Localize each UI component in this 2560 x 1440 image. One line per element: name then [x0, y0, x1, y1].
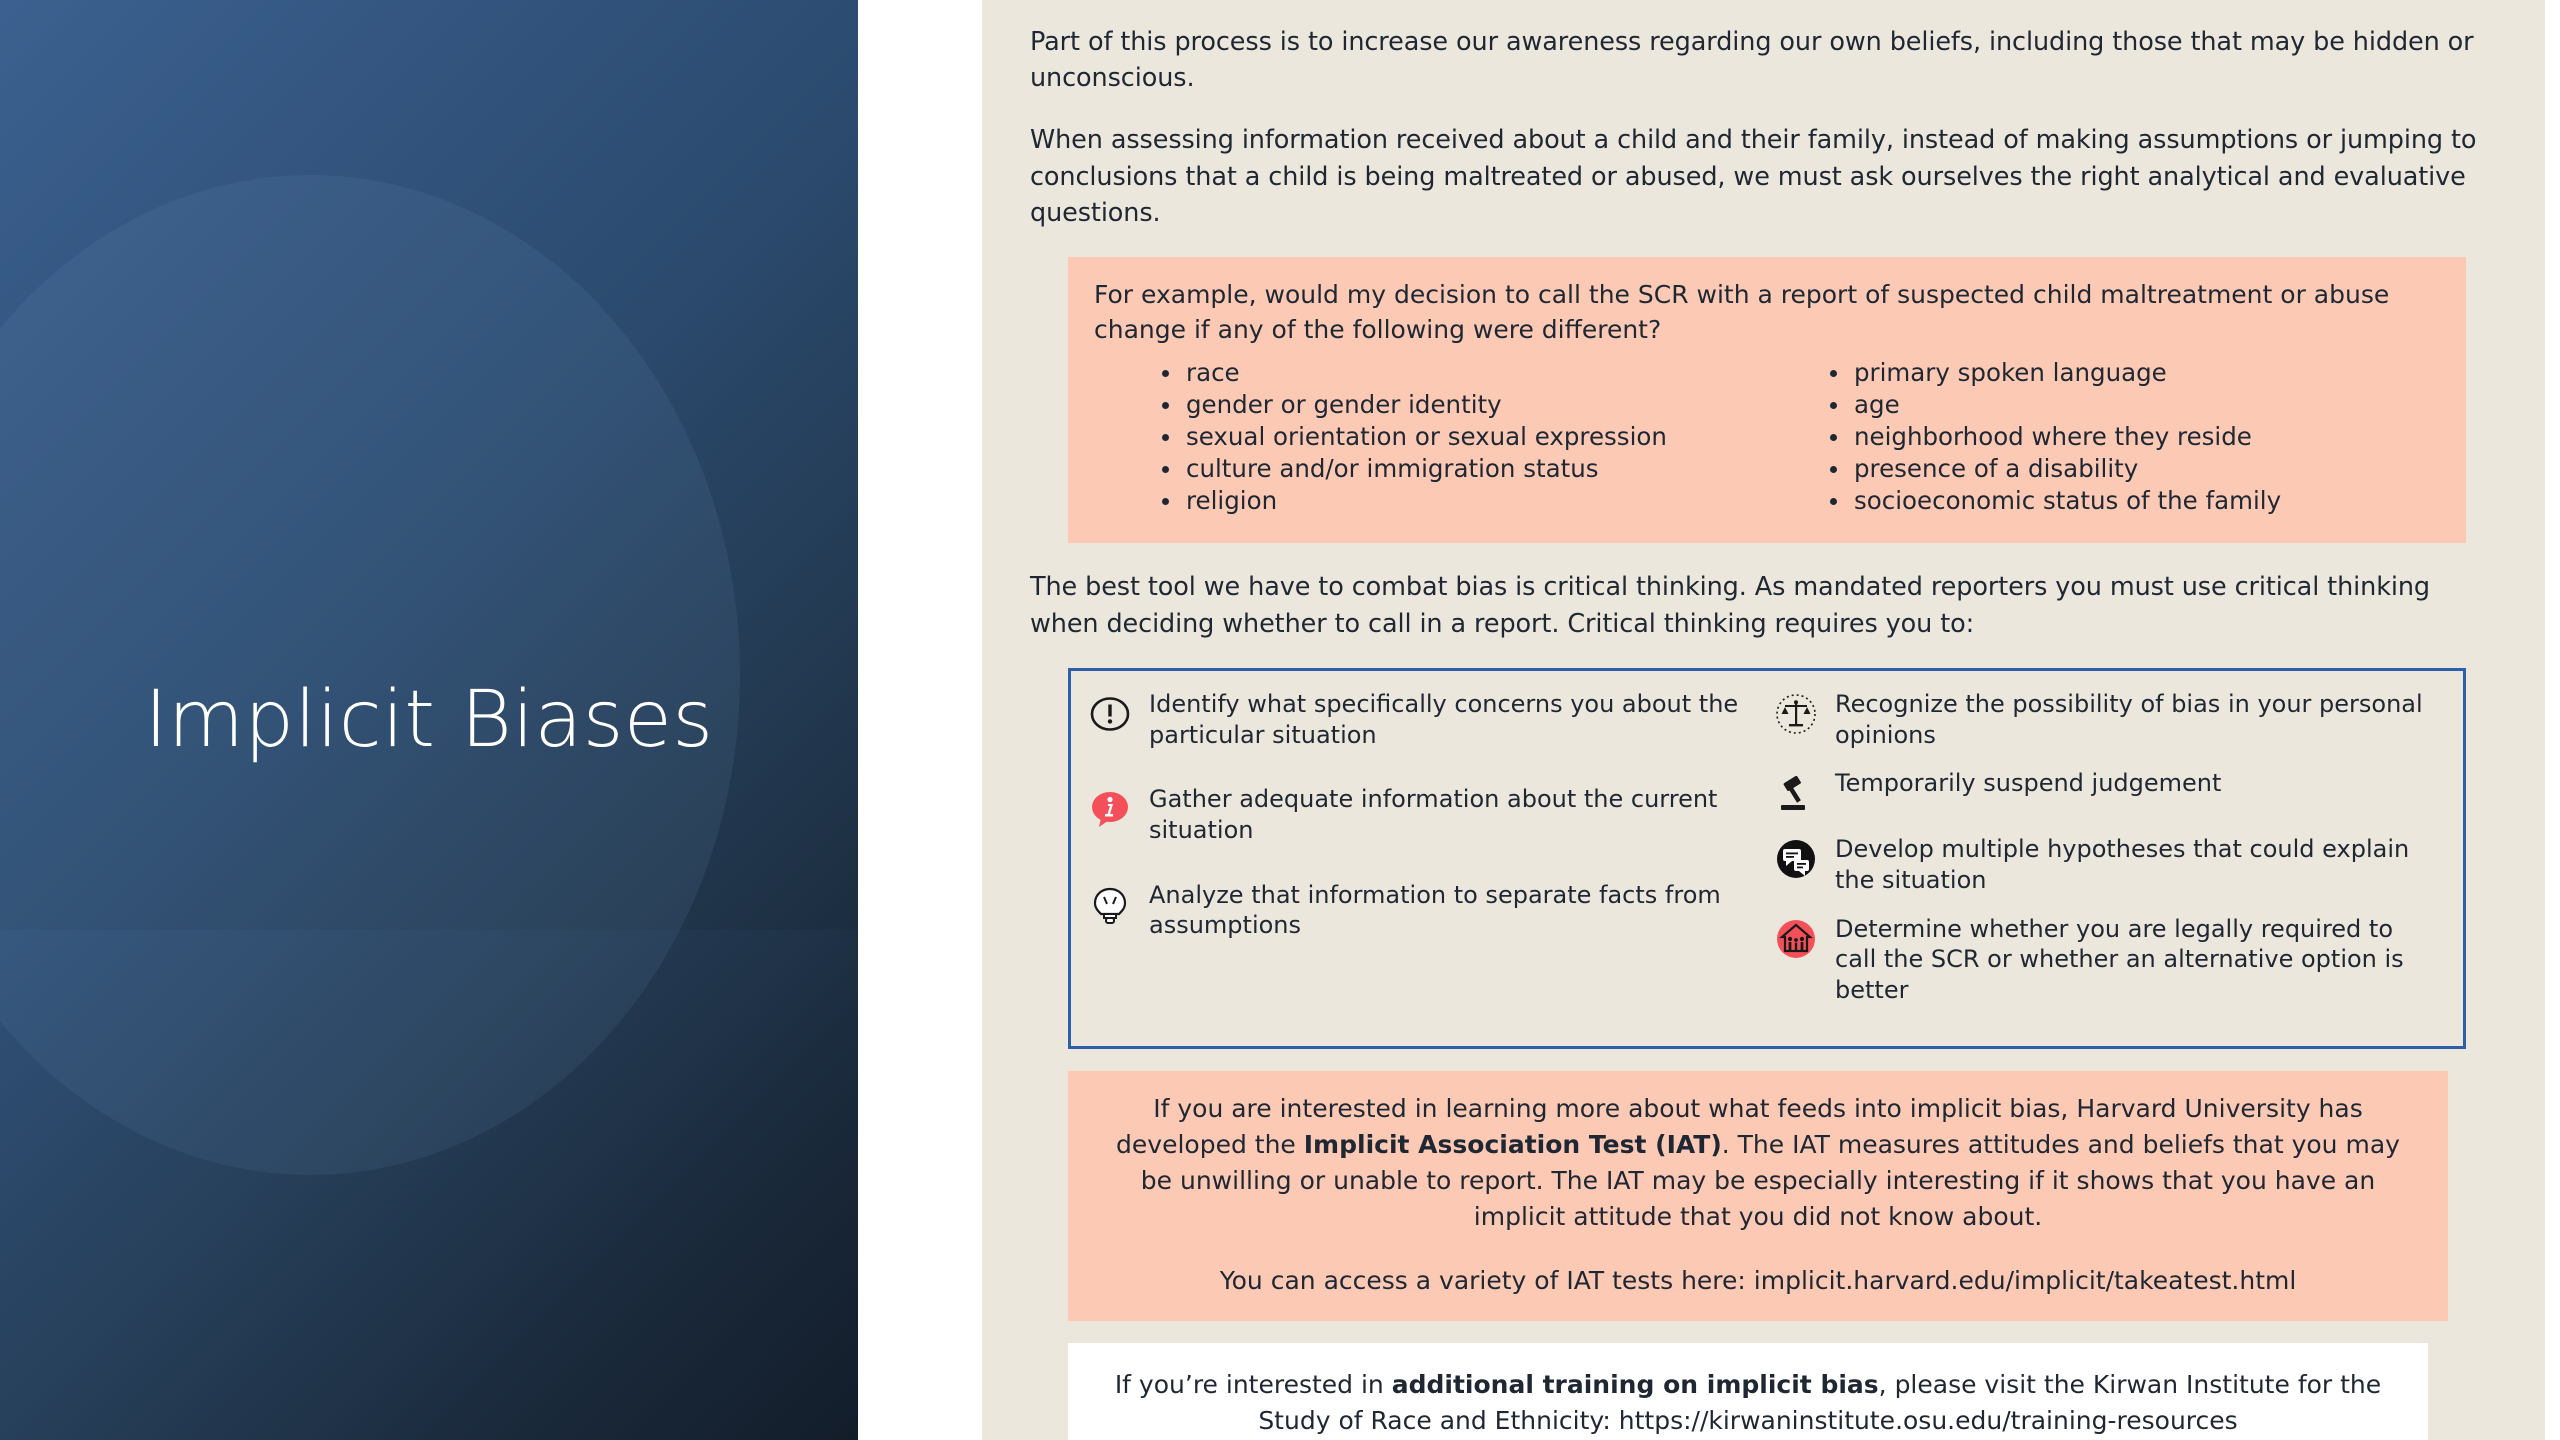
list-item: Recognize the possibility of bias in you… — [1773, 689, 2433, 750]
list-item: Develop multiple hypotheses that could e… — [1773, 834, 2433, 895]
list-item: socioeconomic status of the family — [1828, 485, 2412, 517]
list-item: neighborhood where they reside — [1828, 421, 2412, 453]
list-item: Gather adequate information about the cu… — [1087, 784, 1747, 845]
scales-of-justice-icon — [1773, 691, 1819, 737]
critical-thinking-box: Identify what specifically concerns you … — [1068, 668, 2466, 1049]
example-bullet-column-left: race gender or gender identity sexual or… — [1134, 357, 1744, 517]
list-item-label: Recognize the possibility of bias in you… — [1835, 689, 2433, 750]
list-item: sexual orientation or sexual expression — [1160, 421, 1744, 453]
list-item-label: Gather adequate information about the cu… — [1149, 784, 1747, 845]
house-family-icon — [1773, 916, 1819, 962]
kirwan-training-phrase: additional training on implicit bias — [1392, 1370, 1879, 1399]
iat-paragraph: If you are interested in learning more a… — [1108, 1091, 2408, 1235]
iat-spacer — [1108, 1235, 2408, 1263]
gavel-icon — [1773, 770, 1819, 816]
paragraph-assessing: When assessing information received abou… — [1030, 122, 2483, 231]
critical-thinking-column-left: Identify what specifically concerns you … — [1087, 689, 1747, 1024]
list-item: Temporarily suspend judgement — [1773, 768, 2433, 816]
list-item-label: Temporarily suspend judgement — [1835, 768, 2221, 799]
list-item: gender or gender identity — [1160, 389, 1744, 421]
kirwan-text-before-bold: If you’re interested in — [1115, 1370, 1392, 1399]
list-item: primary spoken language — [1828, 357, 2412, 389]
list-item: age — [1828, 389, 2412, 421]
speech-bubbles-icon — [1773, 836, 1819, 882]
example-bullet-columns: race gender or gender identity sexual or… — [1094, 357, 2440, 517]
list-item: religion — [1160, 485, 1744, 517]
lightbulb-icon — [1087, 882, 1133, 928]
list-item-label: Analyze that information to separate fac… — [1149, 880, 1747, 941]
list-item: Identify what specifically concerns you … — [1087, 689, 1747, 750]
kirwan-paragraph: If you’re interested in additional train… — [1108, 1367, 2388, 1440]
info-bubble-icon — [1087, 786, 1133, 832]
list-item: presence of a disability — [1828, 453, 2412, 485]
document-panel: Part of this process is to increase our … — [982, 0, 2545, 1440]
paragraph-awareness: Part of this process is to increase our … — [1030, 24, 2483, 96]
kirwan-callout-box: If you’re interested in additional train… — [1068, 1343, 2428, 1440]
critical-thinking-column-right: Recognize the possibility of bias in you… — [1773, 689, 2433, 1024]
title-panel: Implicit Biases — [0, 0, 858, 1440]
exclamation-circle-icon — [1087, 691, 1133, 737]
list-item-label: Develop multiple hypotheses that could e… — [1835, 834, 2433, 895]
list-item: Determine whether you are legally requir… — [1773, 914, 2433, 1006]
example-lead-text: For example, would my decision to call t… — [1094, 277, 2440, 347]
page-title: Implicit Biases — [0, 0, 858, 1440]
iat-link-line[interactable]: You can access a variety of IAT tests he… — [1108, 1263, 2408, 1299]
paragraph-critical-thinking: The best tool we have to combat bias is … — [1030, 569, 2483, 641]
iat-test-name: Implicit Association Test (IAT) — [1304, 1130, 1722, 1159]
list-item: culture and/or immigration status — [1160, 453, 1744, 485]
list-item: Analyze that information to separate fac… — [1087, 880, 1747, 941]
slide: Implicit Biases Part of this process is … — [0, 0, 2560, 1440]
example-callout-box: For example, would my decision to call t… — [1068, 257, 2466, 543]
iat-callout-box: If you are interested in learning more a… — [1068, 1071, 2448, 1321]
list-item-label: Determine whether you are legally requir… — [1835, 914, 2433, 1006]
example-bullet-column-right: primary spoken language age neighborhood… — [1802, 357, 2412, 517]
list-item-label: Identify what specifically concerns you … — [1149, 689, 1747, 750]
list-item: race — [1160, 357, 1744, 389]
